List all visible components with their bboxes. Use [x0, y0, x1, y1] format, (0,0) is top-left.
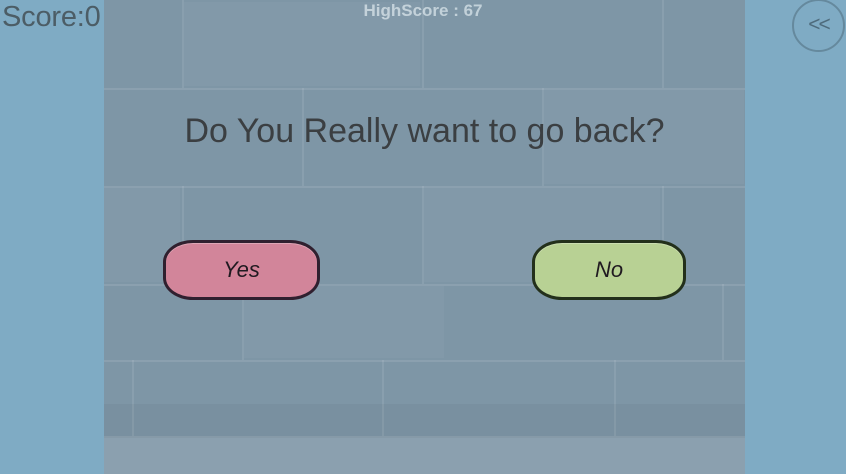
game-screen: Score:0 HighScore : 67 << Do You Really …: [0, 0, 846, 474]
double-chevron-left-icon: <<: [808, 14, 829, 35]
highscore-label: HighScore : 67: [0, 1, 846, 21]
confirm-dialog-prompt: Do You Really want to go back?: [104, 108, 745, 154]
floor-shadow: [104, 404, 745, 438]
back-button[interactable]: <<: [792, 0, 845, 52]
confirm-yes-label: Yes: [223, 259, 260, 281]
brick-mortar-joint: [722, 284, 724, 360]
floor-band: [104, 438, 745, 474]
right-letterbox-panel: [745, 0, 846, 474]
confirm-no-button[interactable]: No: [532, 240, 686, 300]
confirm-yes-button[interactable]: Yes: [163, 240, 320, 300]
left-letterbox-panel: [0, 0, 104, 474]
brick-wall-background: [104, 0, 745, 474]
confirm-no-label: No: [595, 259, 623, 281]
brick-mortar-line: [104, 360, 745, 362]
